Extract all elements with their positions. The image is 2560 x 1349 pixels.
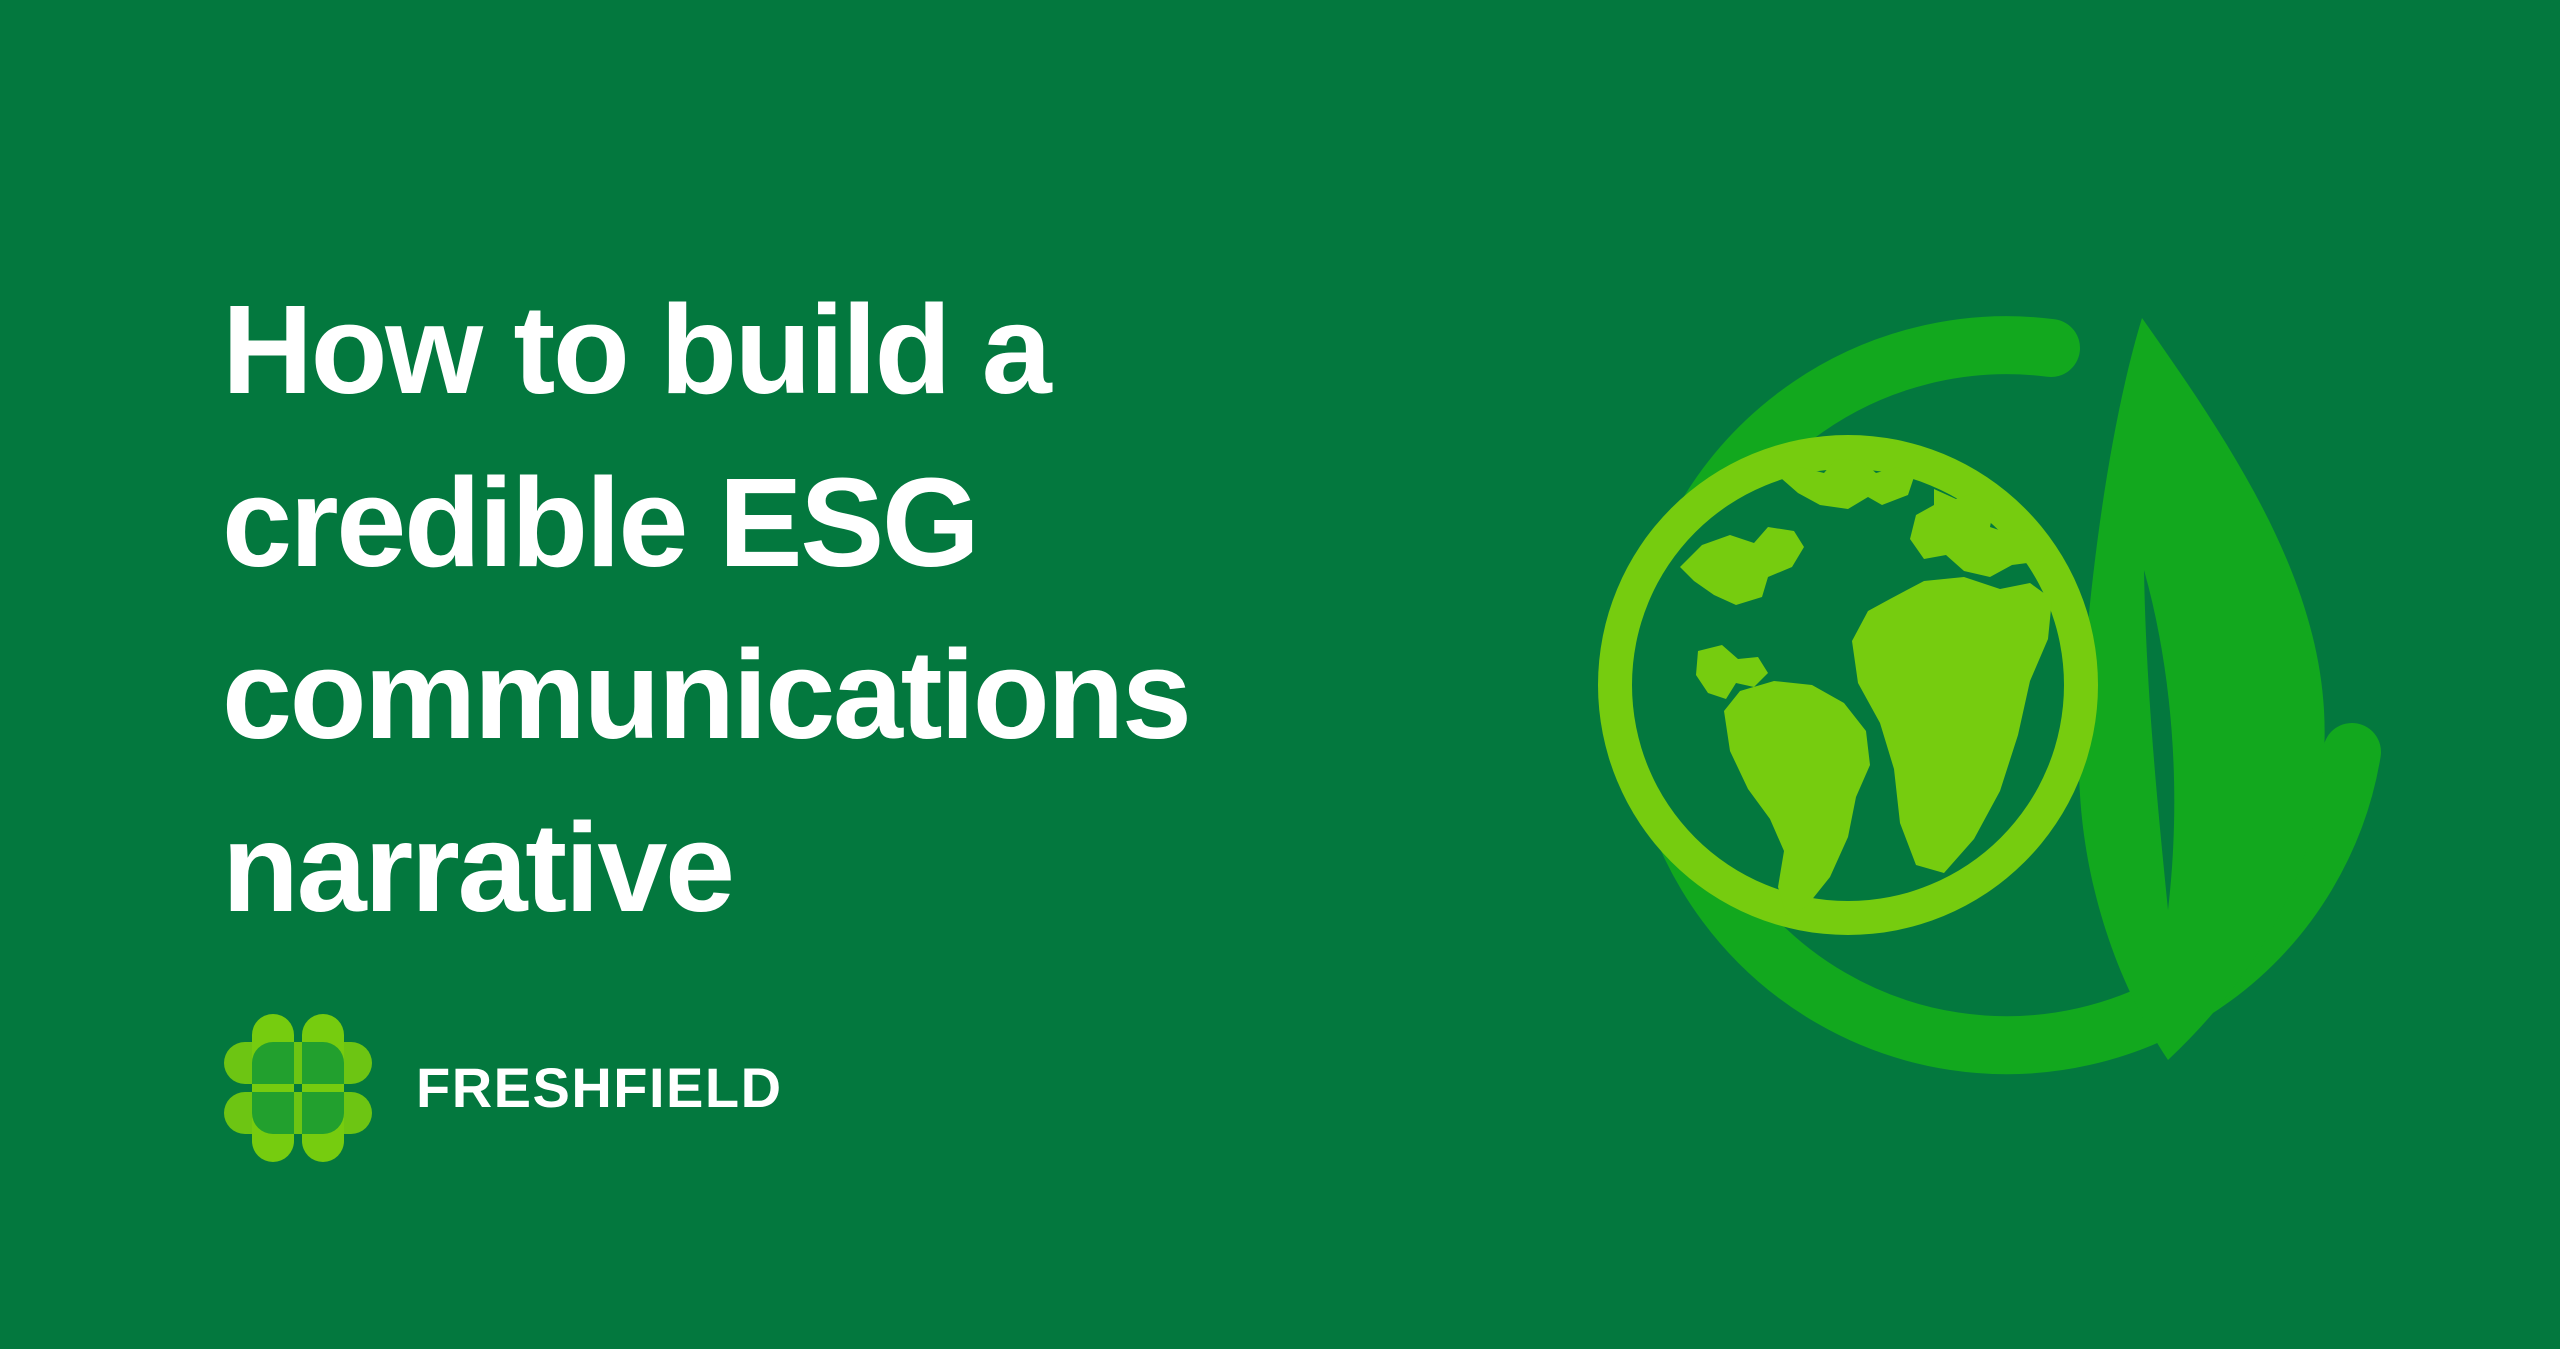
brand-wordmark: FRESHFIELD	[416, 1060, 783, 1116]
globe-icon	[1598, 435, 2098, 935]
poster-canvas: How to build a credible ESG communicatio…	[0, 0, 2560, 1349]
left-content-column: How to build a credible ESG communicatio…	[222, 0, 1342, 1349]
page-title: How to build a credible ESG communicatio…	[222, 264, 1362, 954]
esg-globe-leaf-illustration	[1468, 270, 2428, 1190]
clover-logo-icon	[222, 1012, 374, 1164]
brand-lockup[interactable]: FRESHFIELD	[222, 1012, 783, 1164]
